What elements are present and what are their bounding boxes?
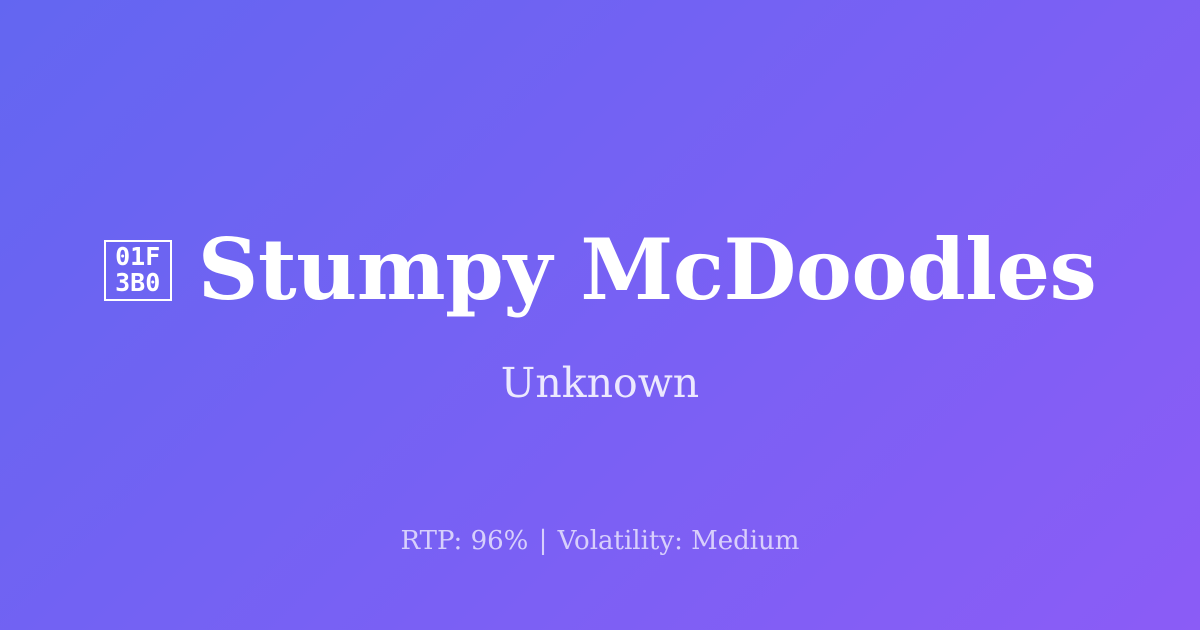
meta-separator: | [537,526,550,556]
page-title: Stumpy McDoodles [198,228,1097,312]
card-meta-line: RTP: 96% | Volatility: Medium [0,528,1200,554]
slot-machine-icon: 01F 3B0 [104,240,172,301]
volatility-label: Volatility: Medium [558,526,800,556]
title-row: 01F 3B0 Stumpy McDoodles [0,228,1200,312]
og-share-card: 01F 3B0 Stumpy McDoodles Unknown RTP: 96… [0,0,1200,630]
tofu-codepoint-line-2: 3B0 [115,270,160,296]
rtp-label: RTP: 96% [401,526,529,556]
card-subtitle: Unknown [0,363,1200,404]
tofu-codepoint-line-1: 01F [115,244,160,270]
